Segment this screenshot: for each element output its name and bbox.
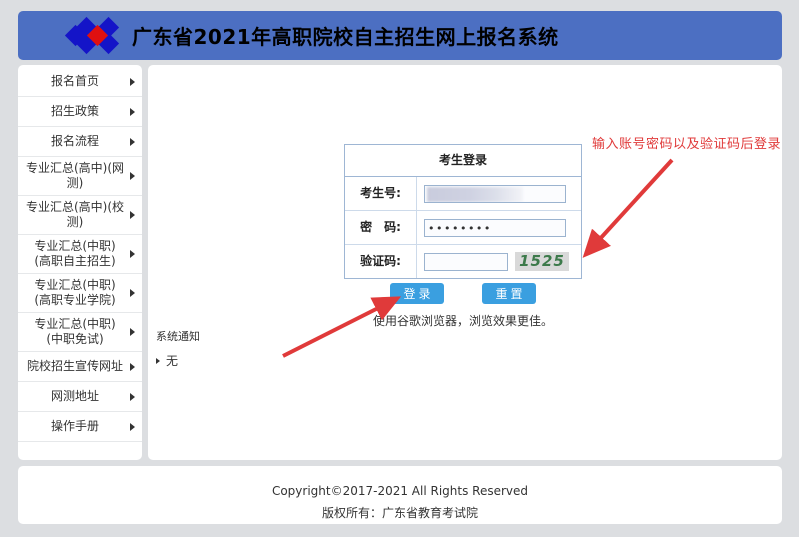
- sidebar-item-10[interactable]: 操作手册: [18, 412, 142, 442]
- sidebar-item-label: 院校招生宣传网址: [27, 359, 123, 374]
- sidebar-item-8[interactable]: 院校招生宣传网址: [18, 352, 142, 382]
- sidebar-item-4[interactable]: 专业汇总(高中)(校测): [18, 196, 142, 235]
- sidebar-item-9[interactable]: 网测地址: [18, 382, 142, 412]
- captcha-input[interactable]: [424, 253, 508, 271]
- sidebar-item-0[interactable]: 报名首页: [18, 67, 142, 97]
- form-row-captcha: 验证码: 1525: [345, 245, 581, 278]
- sidebar-item-label: 专业汇总(中职) (高职自主招生): [34, 239, 115, 269]
- sidebar-item-label: 网测地址: [51, 389, 99, 404]
- chevron-right-icon: [130, 363, 135, 371]
- login-actions: 登录 重置: [344, 283, 582, 304]
- form-row-examinee-id: 考生号:: [345, 177, 581, 211]
- redacted-value-overlay: [427, 187, 523, 202]
- chevron-right-icon: [130, 78, 135, 86]
- chevron-right-icon: [130, 108, 135, 116]
- site-header: 广东省2021年高职院校自主招生网上报名系统: [18, 11, 782, 60]
- sidebar-item-label: 操作手册: [51, 419, 99, 434]
- sidebar-item-label: 专业汇总(高中)(网测): [24, 161, 126, 191]
- chevron-right-icon: [130, 211, 135, 219]
- form-row-password: 密 码: ••••••••: [345, 211, 581, 245]
- password-label: 密 码:: [345, 211, 417, 244]
- site-footer: Copyright©2017-2021 All Rights Reserved …: [18, 466, 782, 524]
- chevron-right-icon: [130, 172, 135, 180]
- system-notice-item-label: 无: [166, 352, 178, 369]
- sidebar-item-label: 招生政策: [51, 104, 99, 119]
- examinee-id-label: 考生号:: [345, 177, 417, 210]
- reset-button[interactable]: 重置: [482, 283, 536, 304]
- sidebar-item-label: 专业汇总(中职) (中职免试): [34, 317, 115, 347]
- chevron-right-icon: [130, 250, 135, 258]
- chevron-right-icon: [130, 289, 135, 297]
- main-panel: 考生登录 考生号: 密 码: •••••••• 验证码:: [148, 65, 782, 460]
- sidebar-item-6[interactable]: 专业汇总(中职) (高职专业学院): [18, 274, 142, 313]
- sidebar-item-3[interactable]: 专业汇总(高中)(网测): [18, 157, 142, 196]
- owner-line: 版权所有：广东省教育考试院: [18, 502, 782, 524]
- sidebar-item-label: 专业汇总(中职) (高职专业学院): [34, 278, 115, 308]
- bullet-icon: [156, 358, 160, 364]
- annotation-text: 输入账号密码以及验证码后登录: [592, 133, 781, 152]
- chevron-right-icon: [130, 138, 135, 146]
- sidebar-item-1[interactable]: 招生政策: [18, 97, 142, 127]
- login-form: 考生登录 考生号: 密 码: •••••••• 验证码:: [344, 144, 582, 279]
- sidebar-item-label: 专业汇总(高中)(校测): [24, 200, 126, 230]
- login-button[interactable]: 登录: [390, 283, 444, 304]
- sidebar-item-2[interactable]: 报名流程: [18, 127, 142, 157]
- sidebar-nav: 报名首页 招生政策 报名流程 专业汇总(高中)(网测) 专业汇总(高中)(校测)…: [18, 65, 142, 460]
- system-notice-title: 系统通知: [156, 328, 200, 344]
- captcha-label: 验证码:: [345, 245, 417, 278]
- sidebar-item-7[interactable]: 专业汇总(中职) (中职免试): [18, 313, 142, 352]
- sidebar-item-5[interactable]: 专业汇总(中职) (高职自主招生): [18, 235, 142, 274]
- login-form-title: 考生登录: [345, 145, 581, 177]
- sidebar-item-label: 报名流程: [51, 134, 99, 149]
- password-input[interactable]: ••••••••: [424, 219, 566, 237]
- chevron-right-icon: [130, 328, 135, 336]
- captcha-image[interactable]: 1525: [515, 252, 569, 271]
- browser-tip: 使用谷歌浏览器，浏览效果更佳。: [344, 312, 582, 329]
- page-title: 广东省2021年高职院校自主招生网上报名系统: [132, 21, 559, 50]
- system-notice: 系统通知 无: [156, 328, 200, 369]
- system-notice-item: 无: [156, 352, 200, 369]
- chevron-right-icon: [130, 423, 135, 431]
- page-root: 广东省2021年高职院校自主招生网上报名系统 报名首页 招生政策 报名流程 专业…: [0, 0, 799, 537]
- diamond-logo-icon: [66, 19, 122, 53]
- copyright-line: Copyright©2017-2021 All Rights Reserved: [18, 480, 782, 502]
- sidebar-item-label: 报名首页: [51, 74, 99, 89]
- chevron-right-icon: [130, 393, 135, 401]
- examinee-id-input[interactable]: [424, 185, 566, 203]
